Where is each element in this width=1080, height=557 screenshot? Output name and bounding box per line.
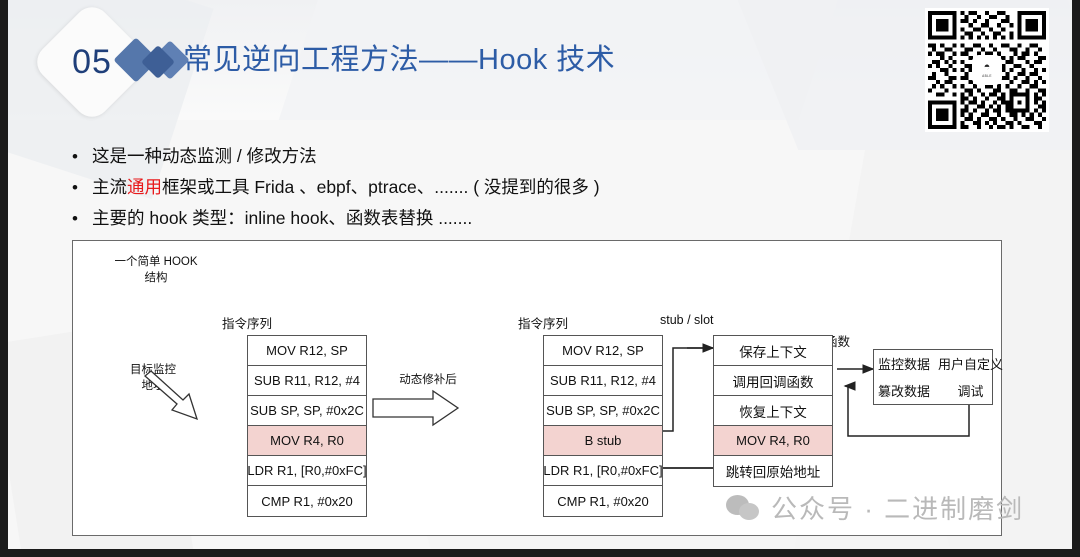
column-header-stub-slot: stub / slot: [660, 313, 780, 327]
table-row: SUB SP, SP, #0x2C: [544, 396, 662, 426]
column-header-instruction-sequence-2: 指令序列: [483, 313, 603, 332]
bullet-text: 主流通用框架或工具 Frida 、ebpf、ptrace、....... ( 没…: [92, 175, 600, 200]
qr-logo-text: ABLE: [982, 74, 992, 78]
bullet-marker: •: [72, 175, 92, 200]
callback-option: 监控数据: [874, 354, 934, 373]
qr-code[interactable]: ◓ ABLE: [925, 8, 1049, 132]
column-header-instruction-sequence-1: 指令序列: [187, 313, 307, 332]
watermark: 公众号 · 二进制磨剑: [726, 489, 1024, 526]
wechat-icon: [726, 495, 762, 521]
page-title: 常见逆向工程方法——Hook 技术: [183, 36, 615, 78]
bullet-marker: •: [72, 206, 92, 231]
callback-option: 用户自定义: [934, 354, 1007, 373]
table-row: 跳转回原始地址: [714, 456, 832, 486]
stub-slot-table: 保存上下文调用回调函数恢复上下文MOV R4, R0跳转回原始地址: [713, 335, 833, 487]
highlighted-term: 通用: [127, 177, 162, 197]
callback-option: 调试: [954, 381, 988, 400]
table-row: 保存上下文: [714, 336, 832, 366]
watermark-text: 公众号 · 二进制磨剑: [771, 489, 1024, 526]
bullet-list: • 这是一种动态监测 / 修改方法 • 主流通用框架或工具 Frida 、ebp…: [72, 144, 972, 237]
table-row: SUB R11, R12, #4: [544, 366, 662, 396]
callback-option: 篡改数据: [874, 381, 934, 400]
table-row: MOV R4, R0: [714, 426, 832, 456]
diagram-caption-line1: 一个简单 HOOK: [91, 253, 221, 269]
table-row: MOV R12, SP: [544, 336, 662, 366]
qr-logo-glyph: ◓: [984, 62, 991, 73]
table-row: CMP R1, #0x20: [544, 486, 662, 516]
list-item: • 这是一种动态监测 / 修改方法: [72, 144, 972, 169]
table-row: LDR R1, [R0,#0xFC]: [544, 456, 662, 486]
table-row: SUB R11, R12, #4: [248, 366, 366, 396]
target-address-label-line1: 目标监控: [108, 361, 198, 377]
slide-canvas: 05 常见逆向工程方法——Hook 技术: [8, 0, 1072, 549]
bullet-text: 这是一种动态监测 / 修改方法: [92, 144, 317, 169]
instruction-table-original: MOV R12, SPSUB R11, R12, #4SUB SP, SP, #…: [247, 335, 367, 517]
diamond-decoration: [120, 40, 190, 88]
table-row: CMP R1, #0x20: [248, 486, 366, 516]
table-row: LDR R1, [R0,#0xFC]: [248, 456, 366, 486]
table-row: 恢复上下文: [714, 396, 832, 426]
callback-function-box: 监控数据用户自定义篡改数据调试: [873, 349, 993, 405]
list-item: • 主要的 hook 类型：inline hook、函数表替换 .......: [72, 206, 972, 231]
table-row: MOV R12, SP: [248, 336, 366, 366]
slide-header: 05 常见逆向工程方法——Hook 技术: [8, 0, 1072, 140]
table-row: 调用回调函数: [714, 366, 832, 396]
table-row: B stub: [544, 426, 662, 456]
qr-center-logo: ◓ ABLE: [972, 55, 1002, 85]
instruction-table-patched: MOV R12, SPSUB R11, R12, #4SUB SP, SP, #…: [543, 335, 663, 517]
diagram-caption-line2: 结构: [91, 269, 221, 285]
patch-arrow-label: 动态修补后: [378, 371, 478, 387]
table-row: SUB SP, SP, #0x2C: [248, 396, 366, 426]
target-address-label-line2: 地址: [108, 377, 198, 393]
table-row: MOV R4, R0: [248, 426, 366, 456]
bullet-text: 主要的 hook 类型：inline hook、函数表替换 .......: [92, 206, 472, 231]
bullet-marker: •: [72, 144, 92, 169]
list-item: • 主流通用框架或工具 Frida 、ebpf、ptrace、....... (…: [72, 175, 972, 200]
